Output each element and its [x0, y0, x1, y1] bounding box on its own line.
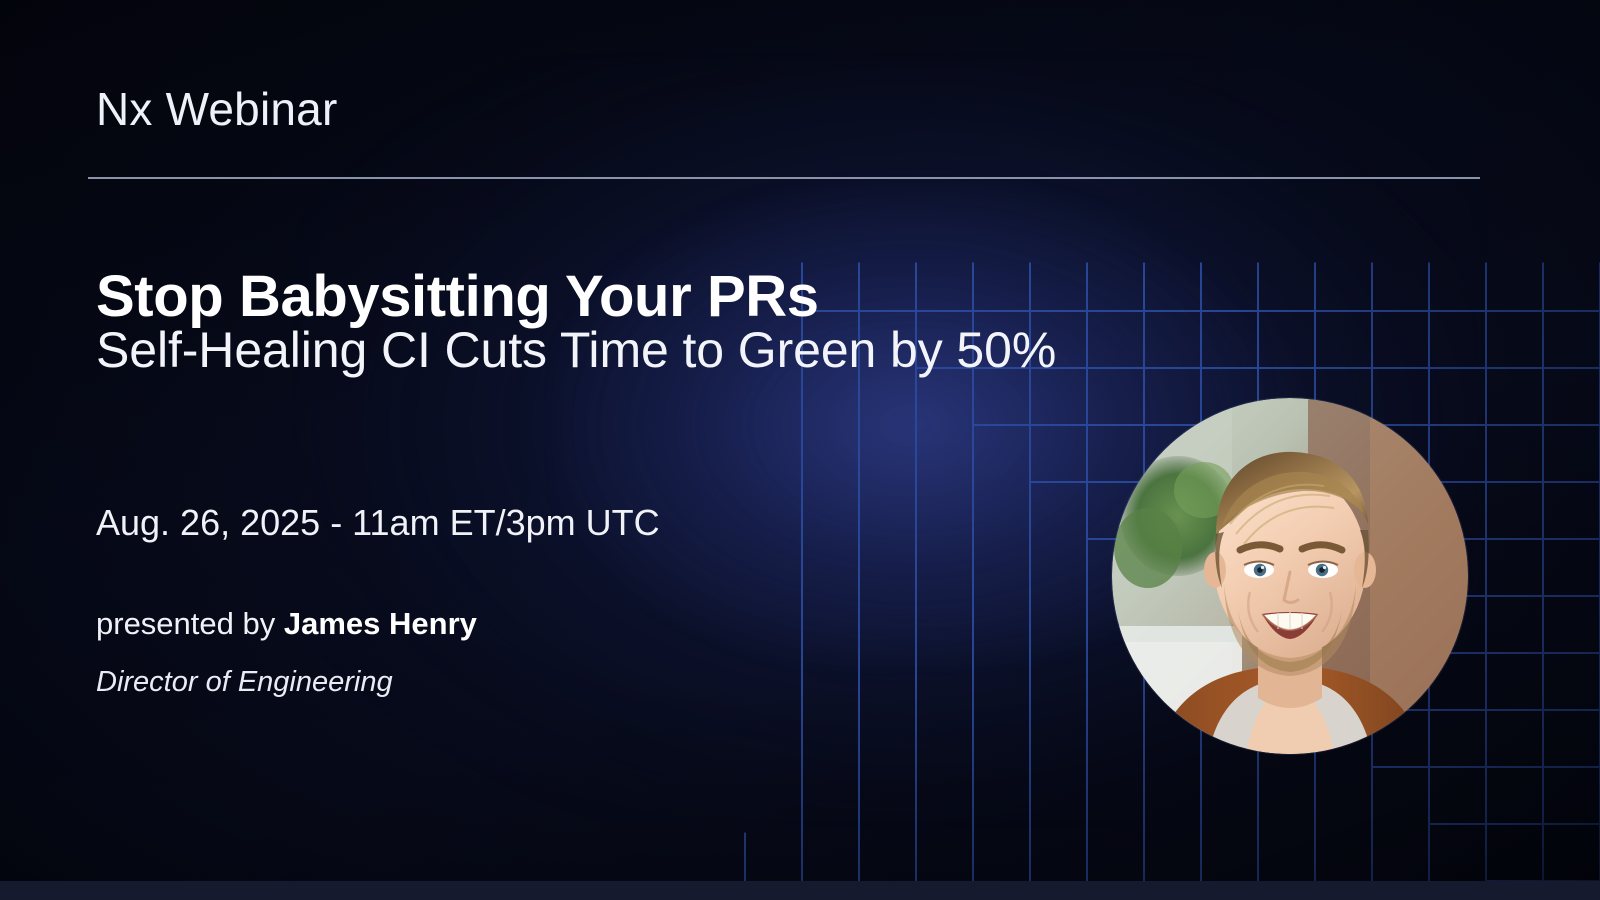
- page-subtitle: Self-Healing CI Cuts Time to Green by 50…: [96, 314, 1096, 387]
- webinar-promo-card: Nx Webinar Stop Babysitting Your PRs Sel…: [0, 0, 1600, 900]
- page-eyebrow: Nx Webinar: [96, 86, 337, 132]
- presenter-role: Director of Engineering: [96, 668, 393, 697]
- event-datetime: Aug. 26, 2025 - 11am ET/3pm UTC: [96, 505, 660, 541]
- content-block: Nx Webinar Stop Babysitting Your PRs Sel…: [96, 0, 1116, 900]
- presenter-line: presented by James Henry: [96, 608, 477, 639]
- presenter-prefix: presented by: [96, 606, 275, 641]
- presenter-name: James Henry: [284, 606, 477, 641]
- header-divider: [88, 177, 1480, 179]
- avatar: [1112, 398, 1468, 754]
